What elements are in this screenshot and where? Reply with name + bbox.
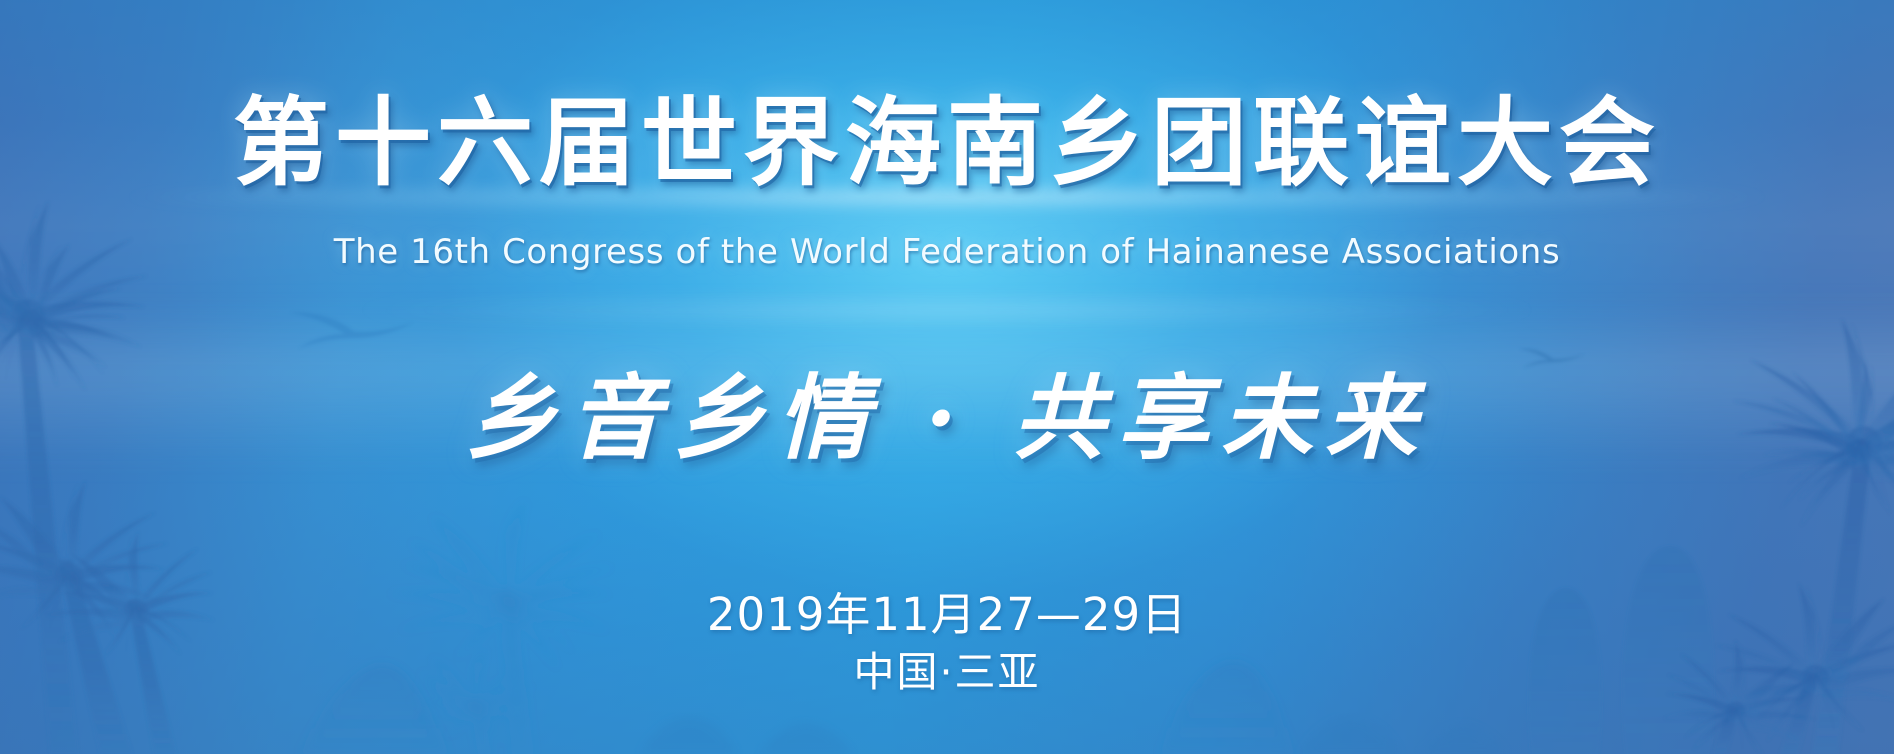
banner-content: 第十六届世界海南乡团联谊大会 The 16th Congress of the … [0, 0, 1894, 754]
page-title-english: The 16th Congress of the World Federatio… [0, 232, 1894, 272]
event-location: 中国·三亚 [0, 638, 1894, 698]
event-slogan: 乡音乡情 · 共享未来 [0, 368, 1894, 469]
page-title-chinese: 第十六届世界海南乡团联谊大会 [0, 92, 1894, 196]
event-date: 2019年11月27—29日 [0, 578, 1894, 643]
event-banner: 第十六届世界海南乡团联谊大会 The 16th Congress of the … [0, 0, 1894, 754]
